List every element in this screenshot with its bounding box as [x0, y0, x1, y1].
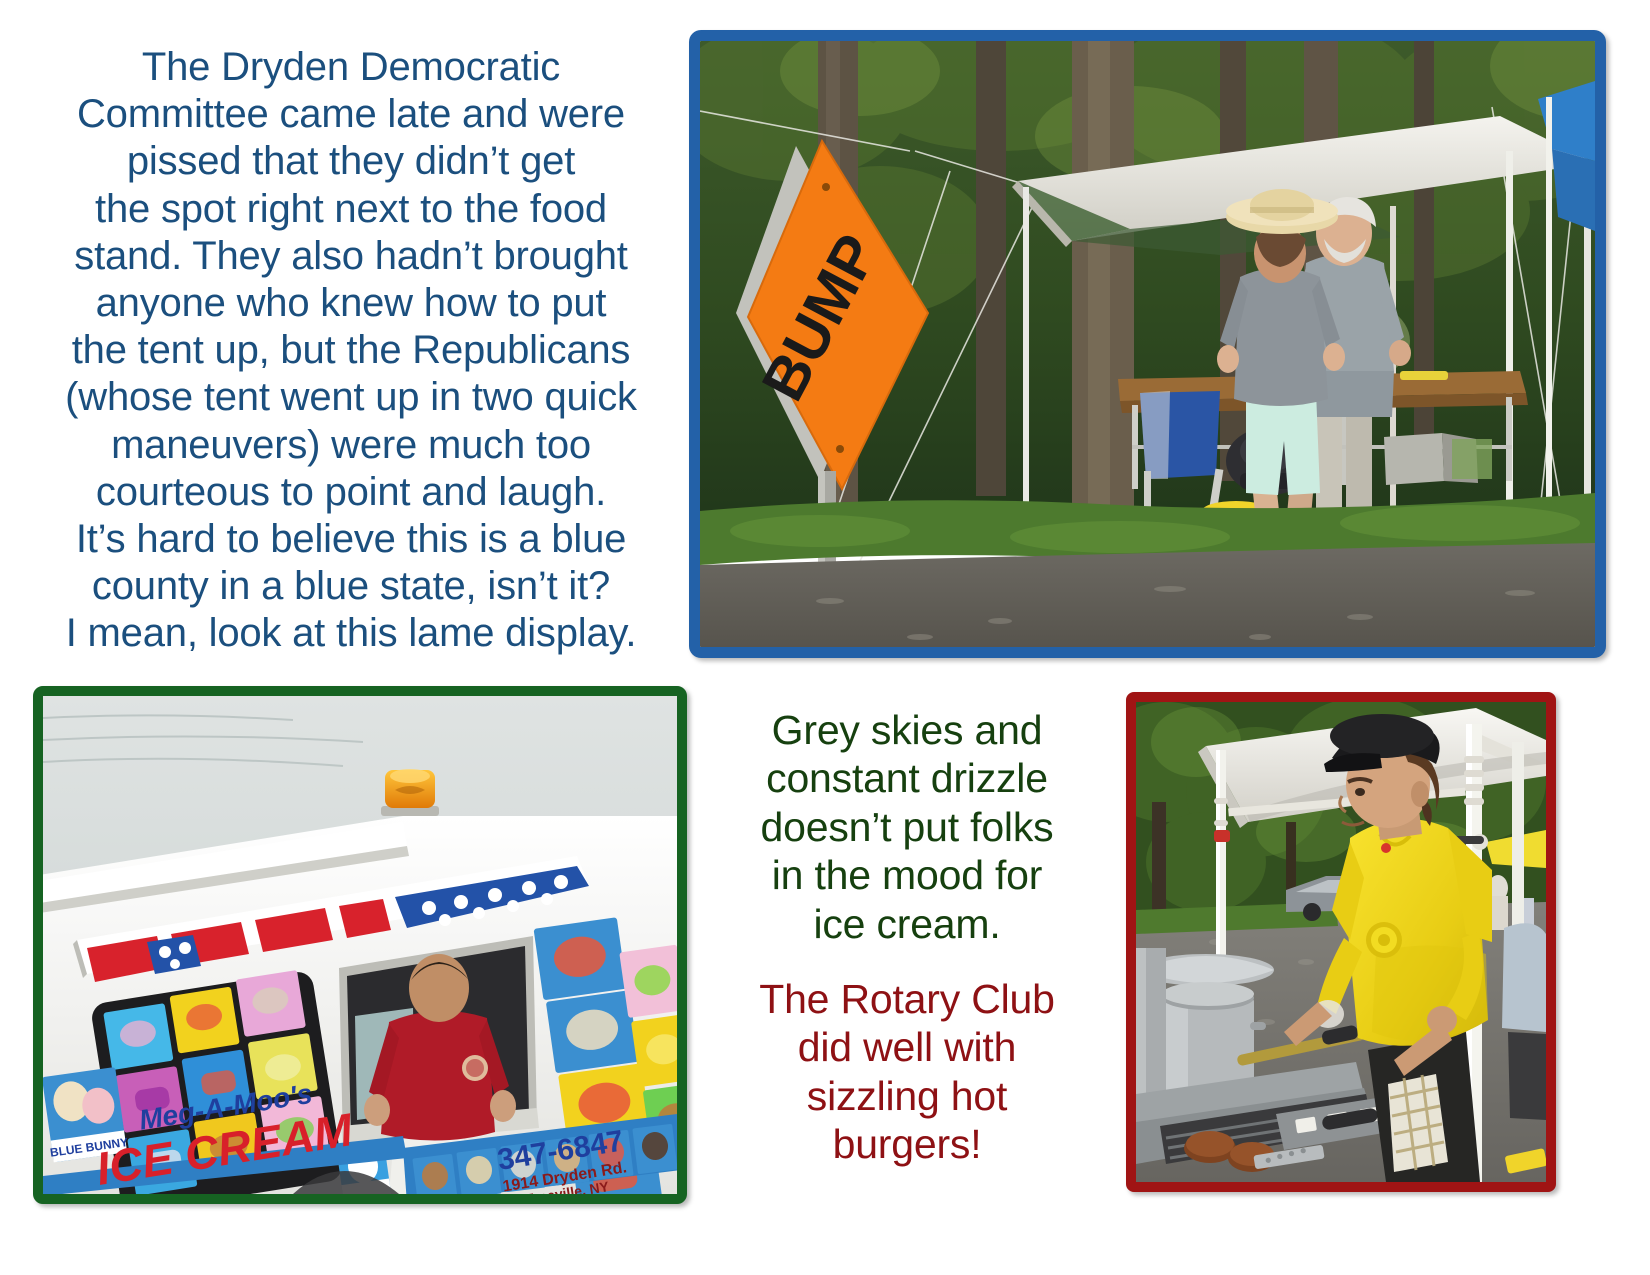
rotary-club-grill-photo — [1126, 692, 1556, 1192]
intro-caption: The Dryden Democratic Committee came lat… — [28, 44, 674, 657]
poster-page: The Dryden Democratic Committee came lat… — [0, 0, 1650, 1275]
tent-scene: BUMP — [700, 41, 1595, 647]
grill-scene — [1136, 702, 1546, 1182]
rotary-caption: The Rotary Club did well with sizzling h… — [712, 975, 1102, 1169]
ice-cream-caption: Grey skies and constant drizzle doesn’t … — [712, 706, 1102, 948]
ice-cream-truck-scene: BLUE BUNNY — [43, 696, 677, 1194]
democratic-committee-tent-photo: BUMP — [689, 30, 1606, 658]
ice-cream-truck-photo: BLUE BUNNY — [33, 686, 687, 1204]
